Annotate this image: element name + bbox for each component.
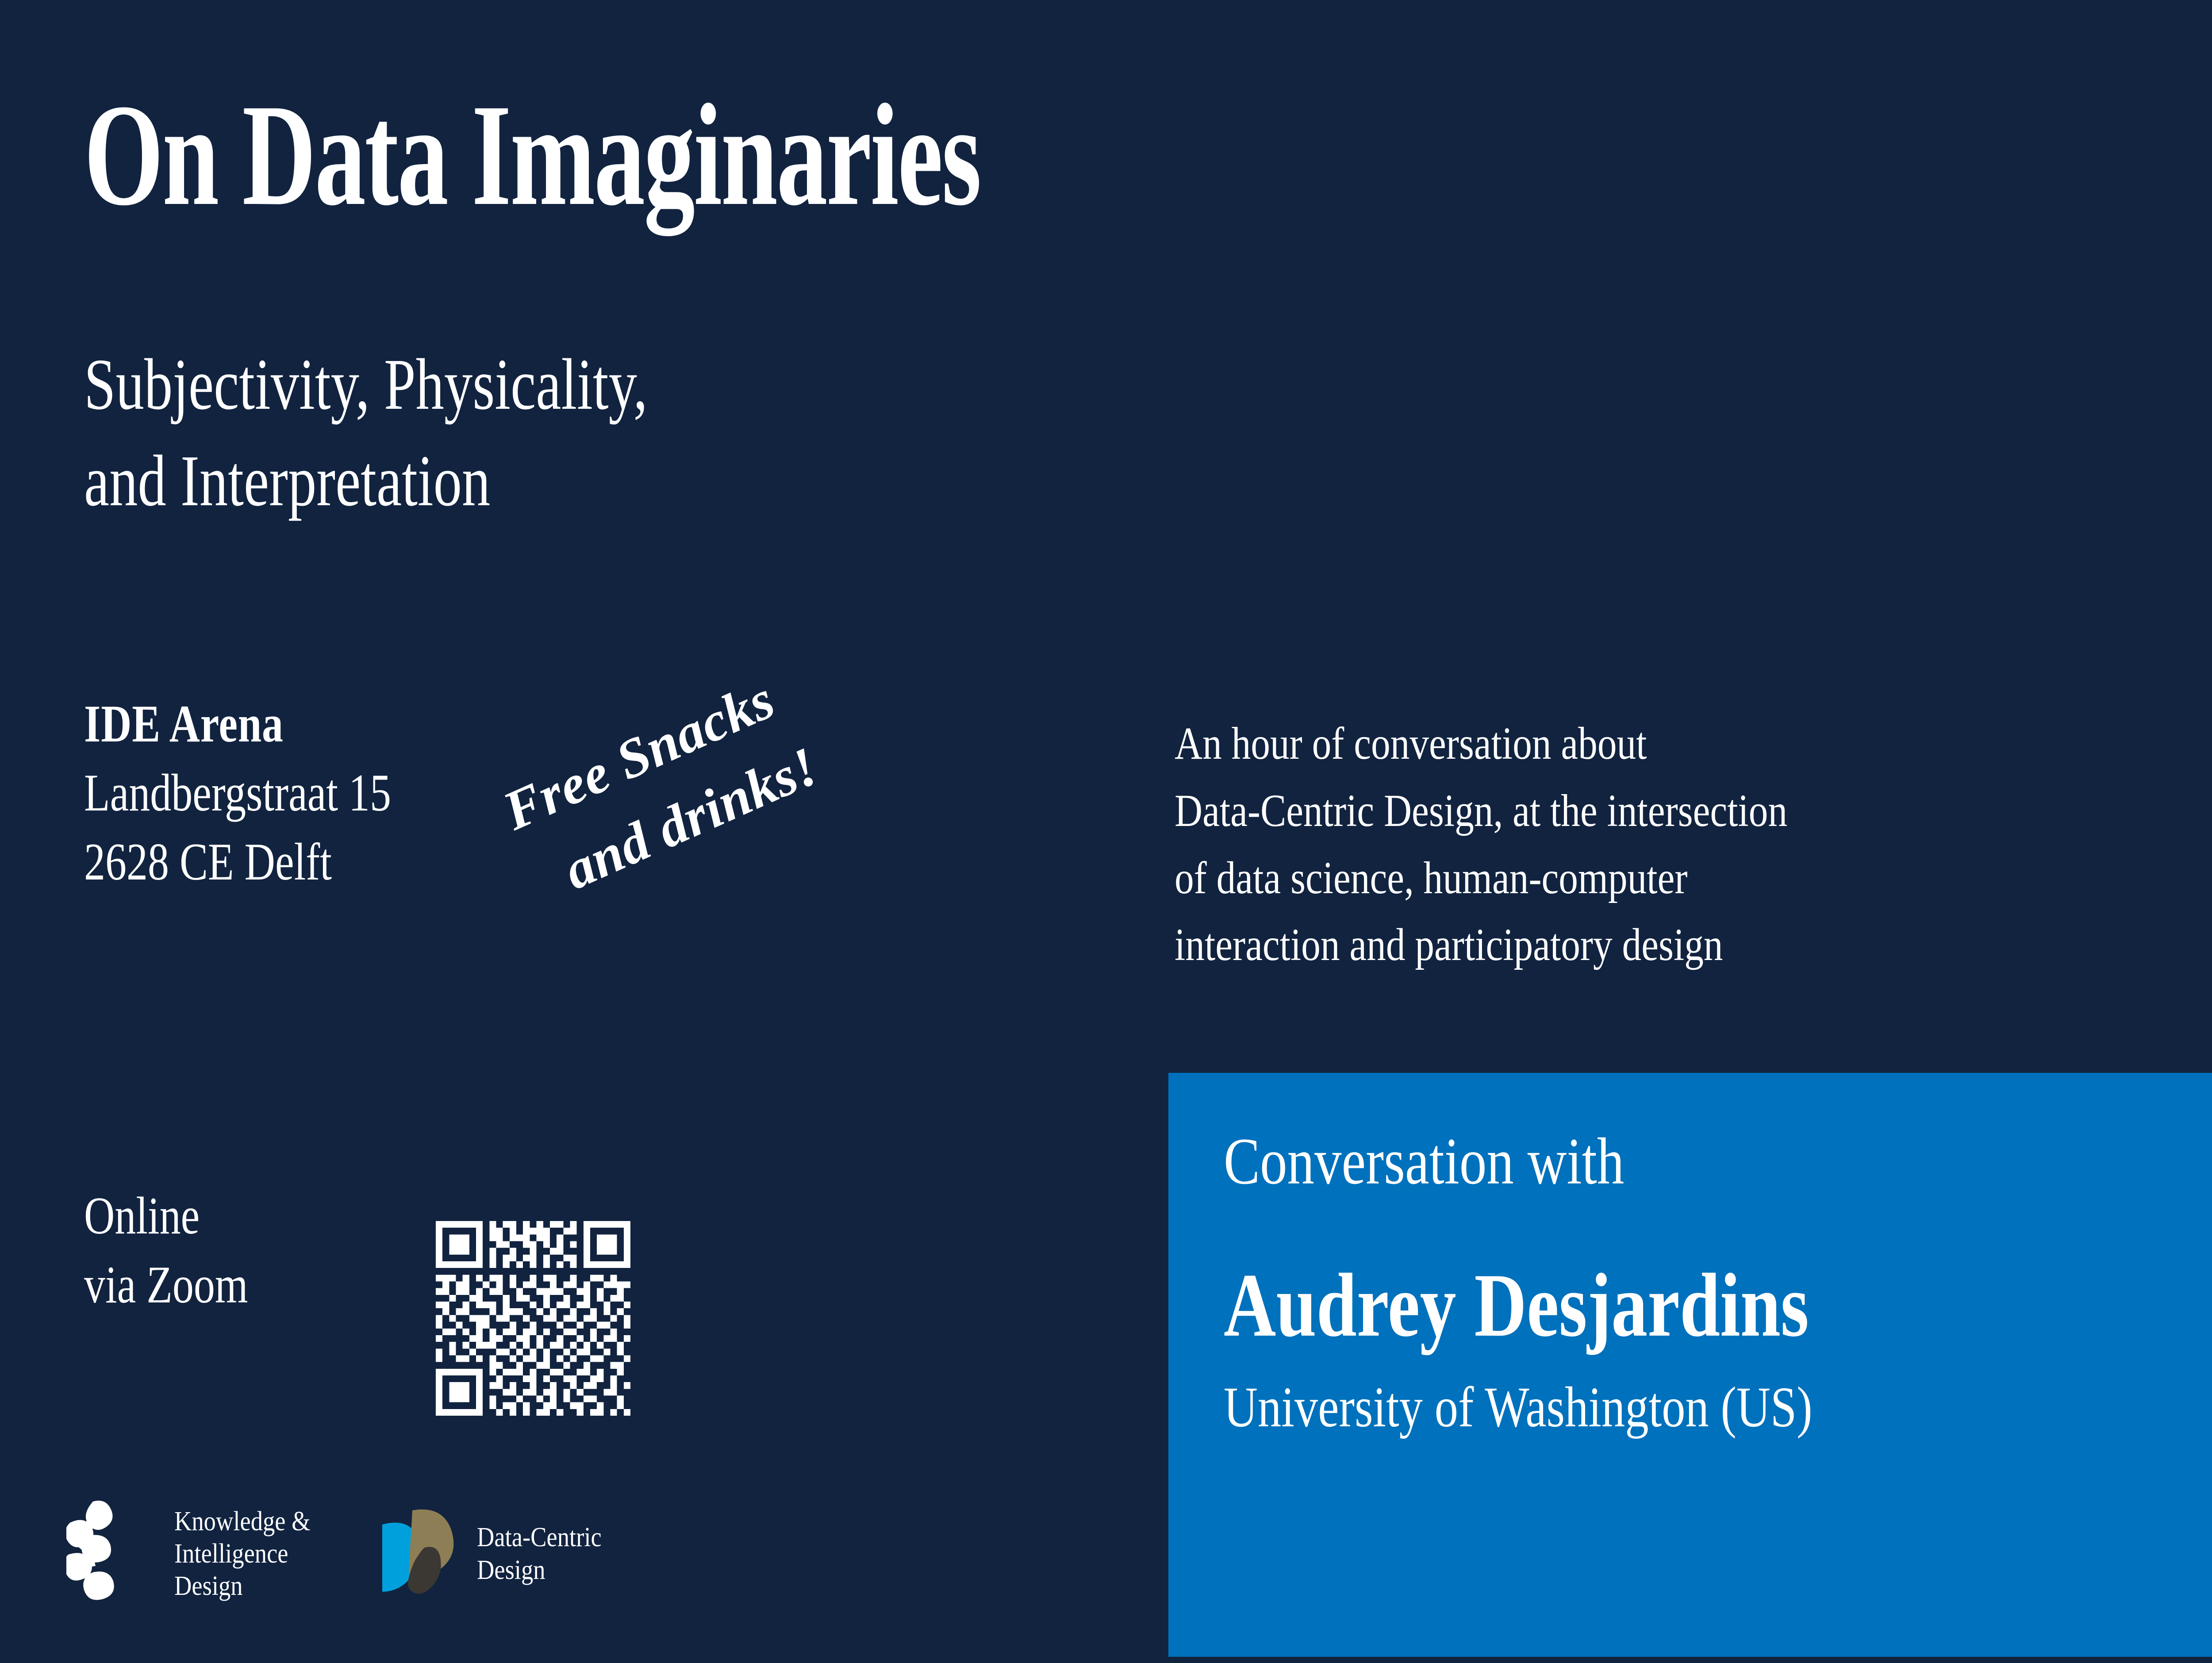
conversation-with-label: Conversation with bbox=[1224, 1125, 1824, 1198]
subtitle-line-2: and Interpretation bbox=[84, 433, 648, 529]
kid-line-2: Intelligence bbox=[174, 1538, 311, 1570]
subtitle-block: Subjectivity, Physicality, and Interpret… bbox=[84, 336, 806, 529]
venue-street: Landbergstraat 15 bbox=[84, 758, 391, 827]
logo-data-centric-design: Data-Centric Design bbox=[373, 1500, 618, 1608]
knowledge-intelligence-design-node-mark bbox=[66, 1500, 159, 1608]
description-line-2: Data-Centric Design, at the intersection bbox=[1175, 777, 2048, 845]
event-poster: On Data Imaginaries Subjectivity, Physic… bbox=[0, 0, 2212, 1663]
logo-knowledge-intelligence-design-text: Knowledge & Intelligence Design bbox=[174, 1506, 311, 1602]
kid-line-1: Knowledge & bbox=[174, 1506, 311, 1538]
title-block: On Data Imaginaries bbox=[84, 82, 1364, 228]
venue-name: IDE Arena bbox=[84, 689, 391, 758]
venue-city: 2628 CE Delft bbox=[84, 827, 391, 896]
dcd-line-1: Data-Centric bbox=[477, 1521, 602, 1554]
online-label-2: via Zoom bbox=[84, 1250, 248, 1319]
description-line-3: of data science, human-computer bbox=[1175, 845, 2048, 912]
free-snacks-sticker: Free Snacks and drinks! bbox=[491, 656, 830, 922]
description-line-4: interaction and participatory design bbox=[1175, 911, 2048, 979]
kid-line-3: Design bbox=[174, 1570, 311, 1602]
description-line-1: An hour of conversation about bbox=[1175, 710, 2048, 777]
logo-data-centric-design-text: Data-Centric Design bbox=[477, 1521, 602, 1586]
speaker-text-block: Conversation with Audrey Desjardins Univ… bbox=[1224, 1125, 1955, 1439]
online-block: Online via Zoom bbox=[84, 1181, 289, 1319]
dcd-line-2: Design bbox=[477, 1554, 602, 1586]
description-block: An hour of conversation about Data-Centr… bbox=[1175, 710, 2212, 979]
logo-knowledge-intelligence-design: Knowledge & Intelligence Design bbox=[66, 1500, 329, 1608]
online-label-1: Online bbox=[84, 1181, 248, 1250]
subtitle-line-1: Subjectivity, Physicality, bbox=[84, 336, 648, 433]
venue-block: IDE Arena Landbergstraat 15 2628 CE Delf… bbox=[84, 689, 468, 896]
footer-logos: Knowledge & Intelligence Design Data-Cen… bbox=[66, 1500, 618, 1608]
data-centric-design-mark bbox=[373, 1500, 462, 1608]
speaker-name: Audrey Desjardins bbox=[1224, 1256, 1809, 1356]
page-title: On Data Imaginaries bbox=[84, 82, 980, 228]
zoom-qr-code-icon[interactable] bbox=[436, 1221, 630, 1416]
speaker-affiliation: University of Washington (US) bbox=[1224, 1376, 1824, 1439]
speaker-panel: Conversation with Audrey Desjardins Univ… bbox=[1168, 1073, 2212, 1657]
